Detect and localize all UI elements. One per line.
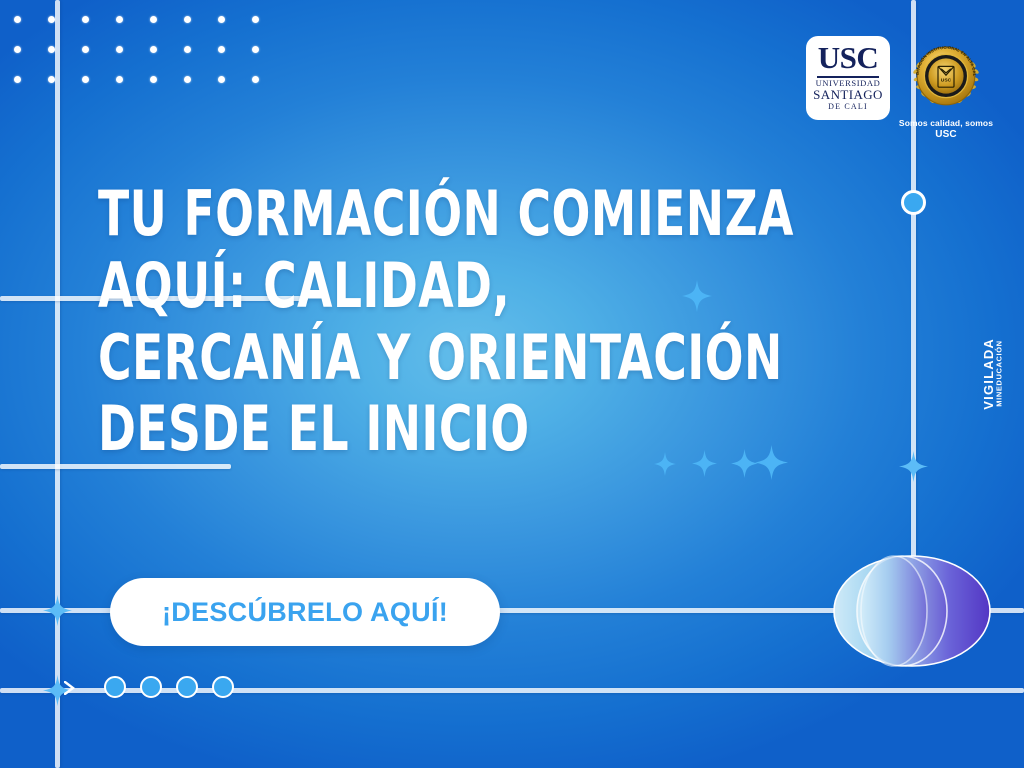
headline-line-2: AQUÍ: CALIDAD,: [98, 256, 705, 317]
grid-dot: [48, 46, 55, 53]
headline-line-1: TU FORMACIÓN COMIENZA: [98, 184, 705, 245]
circle-node-icon: [901, 190, 926, 215]
chain-dot: [104, 676, 126, 698]
accreditation-seal-icon: ACREDITACIÓN INSTITUCIONAL EN ALTA CALID…: [906, 36, 986, 116]
grid-dot: [14, 76, 21, 83]
grid-dot: [252, 76, 259, 83]
vigilada-line-2: MINEDUCACIÓN: [996, 338, 1004, 410]
seal-tagline-line1: Somos calidad,: [899, 118, 963, 128]
grid-dot: [116, 76, 123, 83]
grid-dot: [82, 76, 89, 83]
sparkle-icon-intersection: [43, 595, 72, 626]
chain-dot: [212, 676, 234, 698]
grid-dot: [150, 76, 157, 83]
grid-dot: [82, 16, 89, 23]
grid-dot: [48, 16, 55, 23]
grid-dot: [116, 46, 123, 53]
grid-dot: [252, 16, 259, 23]
grid-dot: [184, 46, 191, 53]
grid-dot: [150, 46, 157, 53]
grid-line-vertical-left: [55, 0, 60, 768]
accreditation-seal-block: ACREDITACIÓN INSTITUCIONAL EN ALTA CALID…: [896, 36, 996, 140]
dot-chain-decoration: [104, 676, 234, 698]
usc-logo-line3: DE CALI: [828, 102, 868, 112]
grid-dot: [14, 16, 21, 23]
vigilada-mineducacion-label: VIGILADA MINEDUCACIÓN: [982, 338, 1006, 410]
dot-grid-decoration: [14, 16, 286, 106]
seal-center-text: USC: [941, 78, 952, 84]
headline-line-3: CERCANÍA Y ORIENTACIÓN: [98, 328, 705, 389]
grid-dot: [218, 16, 225, 23]
sparkle-icon: [755, 445, 788, 480]
chain-dot: [176, 676, 198, 698]
headline-line-4: DESDE EL INICIO: [98, 399, 705, 460]
promo-banner: USC UNIVERSIDAD SANTIAGO DE CALI: [0, 0, 1024, 768]
seal-tagline: Somos calidad, somos USC: [896, 119, 996, 140]
page-title: TU FORMACIÓN COMIENZA AQUÍ: CALIDAD, CER…: [98, 184, 705, 471]
grid-dot: [218, 46, 225, 53]
seal-tagline-brand: USC: [935, 129, 956, 140]
grid-dot: [184, 16, 191, 23]
usc-university-logo[interactable]: USC UNIVERSIDAD SANTIAGO DE CALI: [806, 36, 890, 120]
cta-button[interactable]: ¡DESCÚBRELO AQUÍ!: [110, 578, 500, 646]
grid-dot: [14, 46, 21, 53]
sparkle-icon: [731, 449, 758, 478]
globe-graphic: [832, 552, 992, 670]
arrow-marker-icon: [64, 681, 80, 700]
usc-logo-line2: SANTIAGO: [813, 88, 883, 102]
grid-dot: [218, 76, 225, 83]
logo-cluster: USC UNIVERSIDAD SANTIAGO DE CALI: [806, 36, 996, 140]
grid-dot: [82, 46, 89, 53]
grid-dot: [252, 46, 259, 53]
grid-dot: [150, 16, 157, 23]
grid-dot: [184, 76, 191, 83]
grid-dot: [48, 76, 55, 83]
chain-dot: [140, 676, 162, 698]
sparkle-icon-intersection: [899, 451, 928, 482]
usc-logo-mark: USC: [818, 43, 879, 73]
grid-dot: [116, 16, 123, 23]
